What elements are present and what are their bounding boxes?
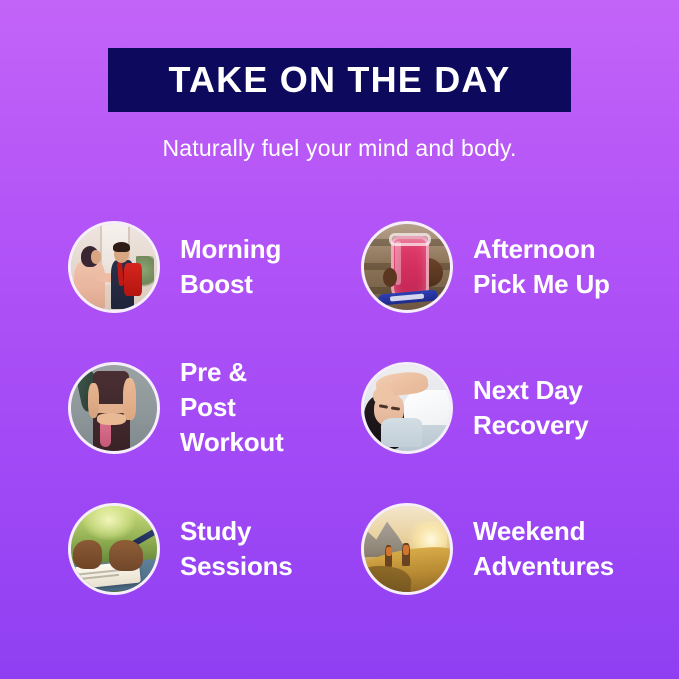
occasion-item-pre-and-post-workout: Pre & Post Workout	[0, 337, 295, 478]
subtitle: Naturally fuel your mind and body.	[0, 135, 679, 162]
occasion-label: Weekend Adventures	[473, 514, 614, 584]
morning-boost-thumbnail	[68, 221, 160, 313]
occasion-item-next-day-recovery: Next Day Recovery	[295, 337, 679, 478]
study-sessions-thumbnail	[68, 503, 160, 595]
product-lifestyle-poster: TAKE ON THE DAY Naturally fuel your mind…	[0, 0, 679, 679]
occasion-row: Morning Boost	[0, 196, 679, 337]
weekend-adventures-thumbnail	[361, 503, 453, 595]
occasion-item-afternoon-pick-me-up: Afternoon Pick Me Up	[295, 196, 679, 337]
occasion-label: Next Day Recovery	[473, 373, 588, 443]
occasion-row: Study Sessions Weeke	[0, 478, 679, 619]
hands-writing-image	[71, 506, 157, 592]
next-day-recovery-thumbnail	[361, 362, 453, 454]
afternoon-pick-me-up-thumbnail	[361, 221, 453, 313]
woman-resting-image	[364, 365, 450, 451]
woman-with-yoga-mat-image	[71, 365, 157, 451]
page-title: TAKE ON THE DAY	[168, 62, 510, 98]
occasion-grid: Morning Boost	[0, 196, 679, 619]
hikers-on-ridge-image	[364, 506, 450, 592]
occasion-item-morning-boost: Morning Boost	[0, 196, 295, 337]
occasion-label: Afternoon Pick Me Up	[473, 232, 610, 302]
occasion-item-weekend-adventures: Weekend Adventures	[295, 478, 679, 619]
pink-drink-image	[364, 224, 450, 310]
occasion-label: Morning Boost	[180, 232, 281, 302]
headline-banner: TAKE ON THE DAY	[108, 48, 571, 112]
occasion-label: Pre & Post Workout	[180, 355, 295, 460]
occasion-row: Pre & Post Workout N	[0, 337, 679, 478]
mother-and-child-image	[71, 224, 157, 310]
occasion-item-study-sessions: Study Sessions	[0, 478, 295, 619]
occasion-label: Study Sessions	[180, 514, 293, 584]
pre-and-post-workout-thumbnail	[68, 362, 160, 454]
